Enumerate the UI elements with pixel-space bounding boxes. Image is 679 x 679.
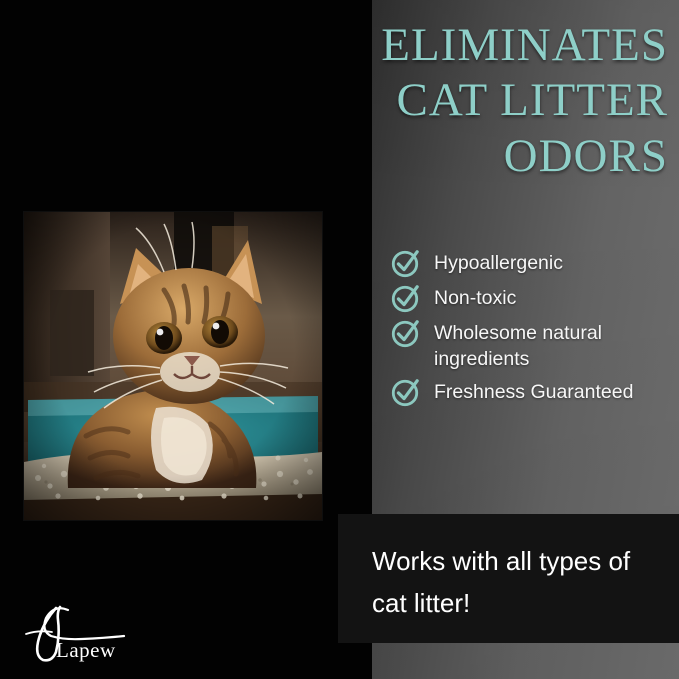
advertisement-banner: ELIMINATES CAT LITTER ODORS [0, 0, 679, 679]
check-circle-icon [390, 283, 420, 313]
cat-photo-illustration [24, 212, 322, 520]
list-item: Non-toxic [390, 285, 675, 313]
callout-text: Works with all types of cat litter! [372, 540, 662, 624]
headline: ELIMINATES CAT LITTER ODORS [300, 18, 668, 184]
headline-line-1: ELIMINATES [300, 18, 668, 73]
headline-line-3: ODORS [300, 129, 668, 184]
list-item-label: Non-toxic [434, 285, 516, 311]
brand-wordmark: Lapew [56, 638, 116, 663]
cat-photo [24, 212, 322, 520]
list-item-label: Wholesome natural ingredients [434, 320, 670, 372]
headline-line-2: CAT LITTER [300, 73, 668, 128]
callout-box: Works with all types of cat litter! [338, 514, 679, 643]
list-item: Freshness Guaranteed [390, 379, 675, 407]
benefits-list: Hypoallergenic Non-toxic Wholesome natur… [390, 250, 675, 414]
check-circle-icon [390, 248, 420, 278]
list-item-label: Freshness Guaranteed [434, 379, 633, 405]
list-item: Wholesome natural ingredients [390, 320, 675, 372]
list-item: Hypoallergenic [390, 250, 675, 278]
check-circle-icon [390, 377, 420, 407]
brand-logo: Lapew [12, 598, 152, 672]
list-item-label: Hypoallergenic [434, 250, 563, 276]
check-circle-icon [390, 318, 420, 348]
